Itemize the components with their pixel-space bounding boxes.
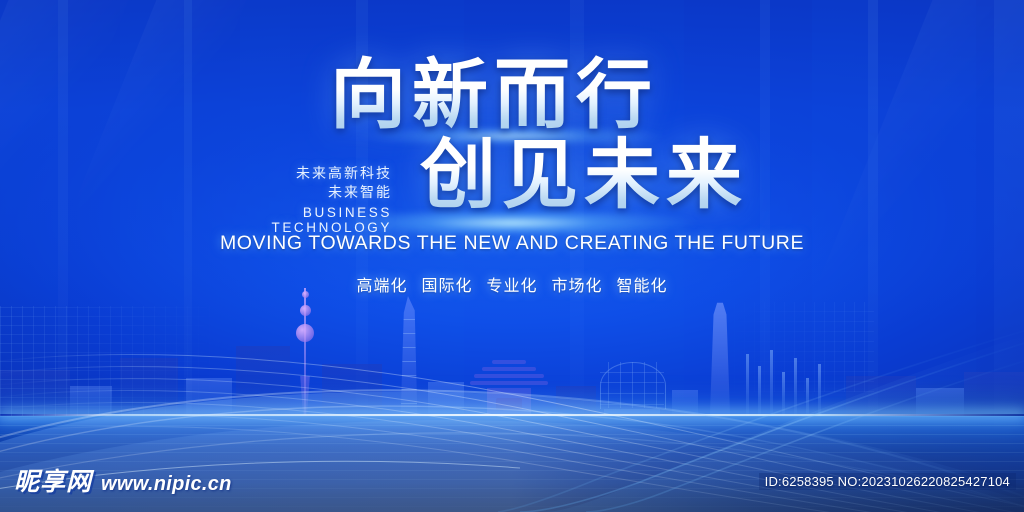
poster-content: 向新而行 创见未来 未来高新科技 未来智能 BUSINESS TECHNOLOG… xyxy=(0,0,1024,512)
keyword-list: 高端化国际化专业化市场化智能化 xyxy=(0,272,1024,296)
watermark-logo: 昵享网 www.nipic.cn xyxy=(14,462,232,498)
nipic-logo-mark: 昵享网 xyxy=(14,462,92,498)
headline-line-1: 向新而行 xyxy=(0,54,1006,138)
side-text-block: 未来高新科技 未来智能 BUSINESS TECHNOLOGY xyxy=(180,164,392,235)
poster-canvas: 向新而行 创见未来 未来高新科技 未来智能 BUSINESS TECHNOLOG… xyxy=(0,0,1024,512)
keyword-item: 专业化 xyxy=(486,278,537,295)
nipic-url: www.nipic.cn xyxy=(101,473,232,496)
side-text-cn-line-2: 未来智能 xyxy=(180,183,392,202)
side-text-cn-line-1: 未来高新科技 xyxy=(180,164,392,183)
keyword-item: 市场化 xyxy=(552,278,603,295)
keyword-item: 高端化 xyxy=(356,278,407,295)
keyword-item: 国际化 xyxy=(421,278,472,295)
side-text-en-line: BUSINESS TECHNOLOGY xyxy=(180,205,392,235)
watermark-id-text: ID:6258395 NO:20231026220825427104 xyxy=(759,473,1016,490)
english-subtitle: MOVING TOWARDS THE NEW AND CREATING THE … xyxy=(0,232,1024,255)
keyword-item: 智能化 xyxy=(617,278,668,295)
headline-glow-upper xyxy=(297,128,727,144)
